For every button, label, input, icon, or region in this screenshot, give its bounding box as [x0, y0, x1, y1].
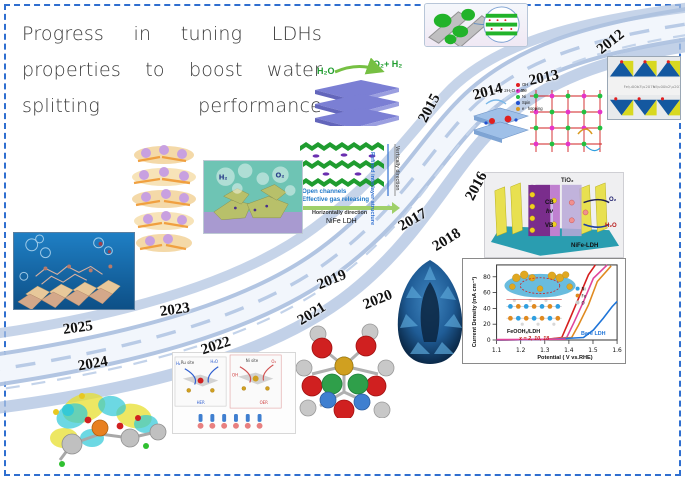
label-material-nife-ldh: NiFe LDH [326, 218, 357, 225]
label-oer: OER [260, 400, 269, 405]
label-her-h2: H₂ [176, 361, 181, 366]
svg-text:Ni: Ni [582, 287, 586, 292]
label-rgo: rGO [525, 181, 537, 187]
svg-text:60: 60 [483, 291, 491, 297]
ball-stick-graphic [292, 322, 396, 418]
label-o2: O₂ [276, 172, 285, 180]
label-horizontally-direction: Horizontally direction [312, 210, 367, 216]
photocatalysis-graphic [485, 173, 623, 258]
crystal-model-graphic: Fe\u00b3\u207aNi\u00b2\u207a [608, 57, 680, 119]
svg-text:1.2: 1.2 [516, 348, 526, 354]
panel-photocatalysis: rGO TiO₂ CB hν VB O₂ H₂O NiFe-LDH [484, 172, 624, 258]
panel-lsv-chart: 02040 6080 1.11.21.3 1.41.51.6 [462, 258, 626, 364]
label-ru-site: Ru site [181, 360, 195, 365]
label-vb: VB [545, 223, 553, 229]
label-vertically-direction: Vertically direction [394, 146, 400, 190]
label-tio2: TiO₂ [561, 178, 574, 184]
panel-gas-evolution-bubbles: H₂ O₂ [203, 160, 303, 234]
panel-carbon-nanotube-composite [424, 3, 528, 47]
chart-annotation-x-values: x = 2, 10, 18 [519, 336, 549, 342]
page-title: Progress in tuning LDHs properties to bo… [22, 16, 322, 124]
svg-text:80: 80 [483, 275, 491, 281]
label-oer-oh: OH [232, 373, 238, 378]
lsv-chart-svg: 02040 6080 1.11.21.3 1.41.51.6 [463, 259, 625, 364]
chart-annotation-bare-ldh: Bare LDH [581, 331, 606, 337]
label-hv: hν [546, 209, 553, 215]
her-oer-graphic: Ru site H₂O H₂ HER Ni site OH O₂ OER [173, 353, 295, 434]
label-oer-o2: O₂ [271, 359, 276, 364]
panel-ball-stick-crystal [292, 322, 396, 418]
svg-text:1.6: 1.6 [612, 348, 622, 354]
chart-annotation-feooh: FeOOHₓ/LDH [507, 329, 540, 335]
label-ni-site: Ni site [246, 358, 259, 363]
graphical-abstract: Progress in tuning LDHs properties to bo… [0, 0, 685, 480]
stacked-ldh-graphic [124, 143, 204, 265]
nanoflower-graphic [392, 258, 468, 366]
svg-text:Ni\u00b2\u207a: Ni\u00b2\u207a [653, 84, 680, 89]
panel-ldh-water-splitting: H₂O O₂+ H₂ [313, 58, 421, 126]
svg-text:1.3: 1.3 [540, 348, 550, 354]
panel-nife-ldh-channels: Open channels Effective gas releasing Re… [296, 140, 404, 226]
label-refined-interlayer: Refined interlayer structure [369, 152, 375, 225]
ldh-layers-graphic [313, 58, 421, 126]
svg-text:20: 20 [483, 322, 491, 328]
svg-text:1.1: 1.1 [492, 348, 502, 354]
svg-text:0: 0 [487, 338, 491, 344]
seawater-graphic [14, 233, 134, 310]
panel-stacked-ldh-nanosheets [124, 143, 204, 265]
label-h2: H₂ [219, 174, 228, 182]
svg-text:Fe\u00b3\u207a: Fe\u00b3\u207a [624, 84, 656, 89]
label-o2: O₂ [609, 197, 616, 203]
bubbles-graphic: H₂ O₂ [204, 161, 302, 234]
svg-text:1.5: 1.5 [588, 348, 598, 354]
label-nife-ldh: NiFe-LDH [571, 243, 598, 249]
dft-graphic [38, 382, 174, 472]
cnt-graphic [425, 4, 527, 47]
label-her: HER [197, 400, 205, 405]
chart-ylabel: Current Density (mA cm⁻²) [472, 272, 478, 352]
svg-text:O: O [582, 300, 585, 305]
label-cb: CB [545, 200, 554, 206]
label-her-h2o: H₂O [210, 359, 218, 364]
panel-dft-charge-density [38, 382, 174, 472]
nife-channel-caption: Open channels Effective gas releasing [302, 188, 369, 204]
chart-xlabel: Potential ( V vs.RHE) [503, 355, 626, 361]
svg-text:Fe: Fe [582, 294, 587, 299]
panel-layered-crystal-model: Fe\u00b3\u207aNi\u00b2\u207a [607, 56, 681, 120]
svg-text:1.4: 1.4 [564, 348, 574, 354]
panel-seawater-splitting [13, 232, 135, 310]
panel-ru-ni-her-oer: Ru site H₂O H₂ HER Ni site OH O₂ OER [172, 352, 296, 434]
panel-ldh-nanoflower [392, 258, 468, 366]
label-h2o: H₂O [605, 223, 617, 229]
svg-text:40: 40 [483, 306, 491, 312]
